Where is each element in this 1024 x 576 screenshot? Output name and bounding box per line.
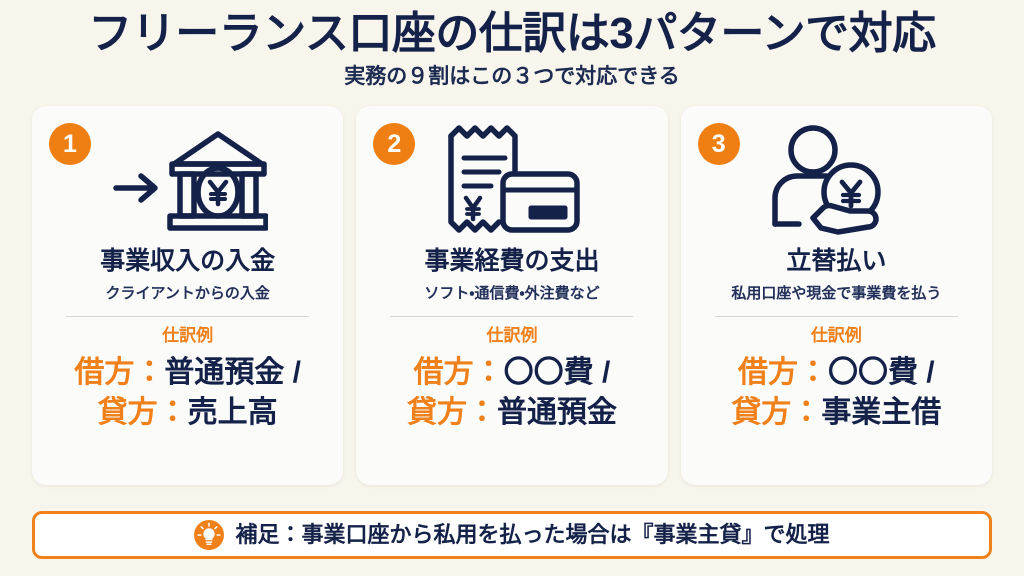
example-label-2: 仕訳例 — [486, 326, 537, 346]
example-label-1: 仕訳例 — [162, 326, 213, 346]
bank-yen-arrow-icon — [48, 106, 327, 246]
debit-key-3: 借方： — [738, 356, 828, 389]
debit-line-2: 借方：〇〇費 / — [407, 353, 617, 393]
journal-entry-3: 借方：〇〇費 / 貸方：事業主借 — [731, 353, 941, 433]
debit-line-1: 借方：普通預金 / — [74, 353, 301, 393]
card-title-1: 事業収入の入金 — [100, 246, 275, 276]
card-title-2: 事業経費の支出 — [424, 246, 599, 276]
card-list: 1 — [0, 89, 1024, 485]
credit-value-2: 普通預金 — [497, 396, 617, 429]
card-advance-payment: 3 立替払い 私用口座や現 — [681, 106, 992, 485]
debit-key-2: 借方： — [414, 356, 504, 389]
debit-value-2: 〇〇費 / — [504, 356, 611, 389]
credit-line-1: 貸方：売上高 — [74, 393, 301, 433]
journal-entry-1: 借方：普通預金 / 貸方：売上高 — [74, 353, 301, 433]
credit-key-1: 貸方： — [98, 396, 188, 429]
card-divider-2 — [390, 316, 633, 317]
card-divider-1 — [66, 316, 309, 317]
credit-line-3: 貸方：事業主借 — [731, 393, 941, 433]
card-divider-3 — [715, 316, 958, 317]
debit-value-3: 〇〇費 / — [828, 356, 935, 389]
card-description-3: 私用口座や現金で事業費を払う — [731, 285, 941, 303]
lightbulb-icon — [194, 520, 224, 550]
person-hand-yen-icon — [697, 106, 976, 246]
receipt-credit-card-icon — [372, 106, 651, 246]
credit-value-1: 売上高 — [188, 396, 278, 429]
card-badge-3: 3 — [698, 123, 740, 165]
footer-note: 補足：事業口座から私用を払った場合は『事業主貸』で処理 — [32, 511, 992, 559]
infographic-page: フリーランス口座の仕訳は3パターンで対応 実務の９割はこの３つで対応できる 1 — [0, 0, 1024, 576]
credit-key-3: 貸方： — [731, 396, 821, 429]
page-title: フリーランス口座の仕訳は3パターンで対応 — [0, 9, 1024, 58]
card-business-income: 1 — [32, 106, 343, 485]
page-subtitle: 実務の９割はこの３つで対応できる — [0, 64, 1024, 89]
credit-value-3: 事業主借 — [821, 396, 941, 429]
card-business-expense: 2 — [356, 106, 667, 485]
debit-line-3: 借方：〇〇費 / — [731, 353, 941, 393]
credit-key-2: 貸方： — [407, 396, 497, 429]
journal-entry-2: 借方：〇〇費 / 貸方：普通預金 — [407, 353, 617, 433]
debit-value-1: 普通預金 / — [164, 356, 301, 389]
card-title-3: 立替払い — [786, 246, 886, 276]
example-label-3: 仕訳例 — [811, 326, 862, 346]
footer-note-text: 補足：事業口座から私用を払った場合は『事業主貸』で処理 — [235, 524, 829, 546]
card-description-1: クライアントからの入金 — [105, 285, 269, 303]
debit-key-1: 借方： — [74, 356, 164, 389]
credit-line-2: 貸方：普通預金 — [407, 393, 617, 433]
header: フリーランス口座の仕訳は3パターンで対応 実務の９割はこの３つで対応できる — [0, 0, 1024, 89]
card-description-2: ソフト・通信費・外注費など — [424, 285, 599, 303]
